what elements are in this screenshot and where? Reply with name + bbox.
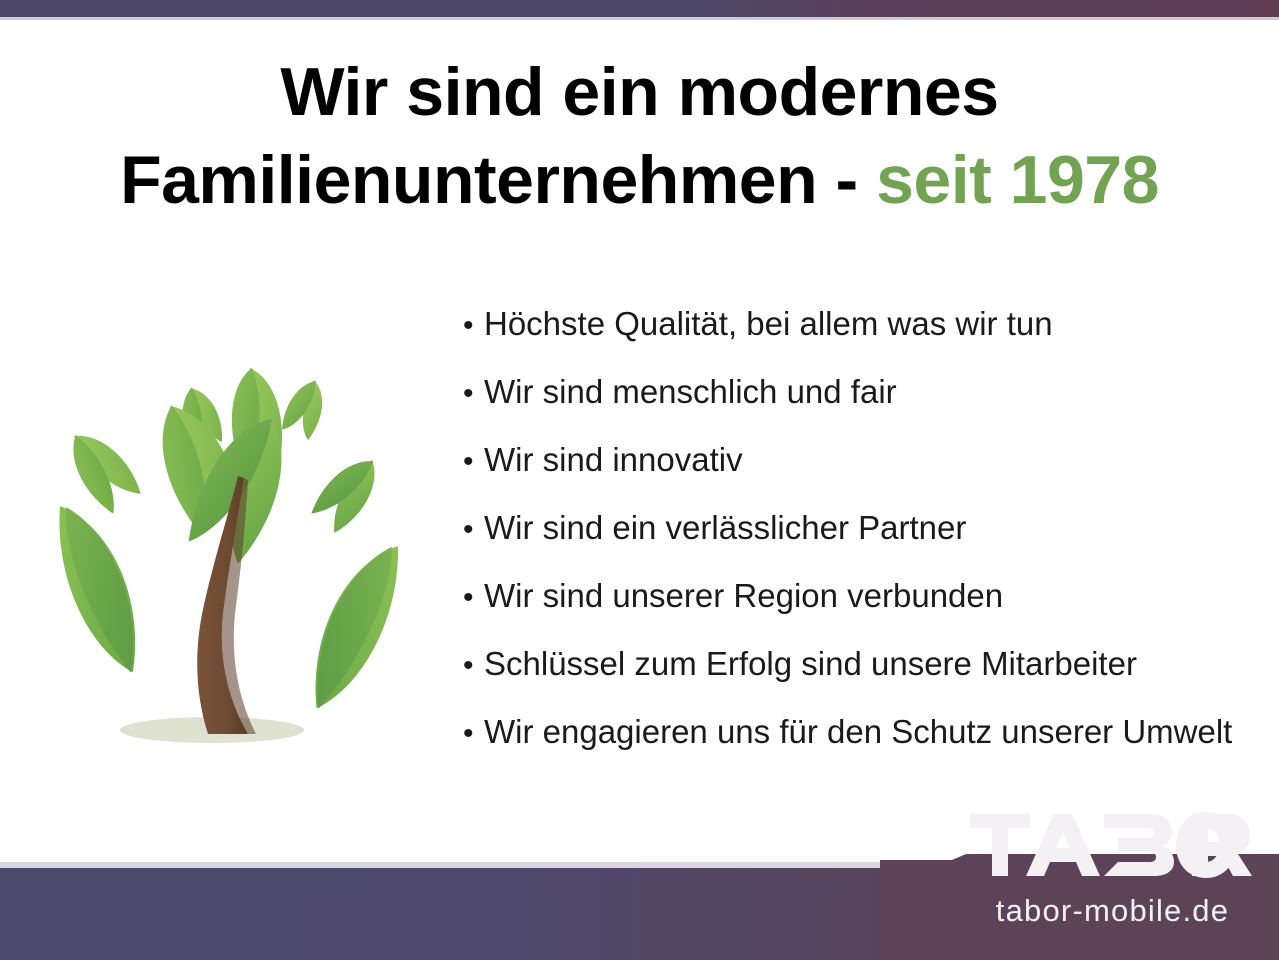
list-item-label: Wir engagieren uns für den Schutz unsere… — [484, 713, 1265, 751]
bullet-marker-icon: • — [455, 579, 484, 617]
list-item: • Wir sind menschlich und fair — [455, 373, 1265, 441]
leaf-left-outer — [58, 421, 145, 517]
top-accent-bar — [0, 0, 1279, 17]
list-item-label: Höchste Qualität, bei allem was wir tun — [484, 305, 1265, 343]
bullet-marker-icon: • — [455, 443, 484, 481]
list-item-label: Wir sind menschlich und fair — [484, 373, 1265, 411]
list-item: • Schlüssel zum Erfolg sind unsere Mitar… — [455, 645, 1265, 713]
bullet-marker-icon: • — [455, 647, 484, 685]
leaf-lower-right — [309, 536, 402, 718]
slide-canvas: Wir sind ein modernes Familienunternehme… — [0, 0, 1279, 960]
tree-illustration — [22, 330, 442, 760]
tabor-wordmark-icon — [968, 812, 1253, 878]
leaf-lower-left — [56, 499, 140, 679]
list-item-label: Wir sind ein verlässlicher Partner — [484, 509, 1265, 547]
list-item: • Wir sind unserer Region verbunden — [455, 577, 1265, 645]
headline-line-1: Wir sind ein modernes — [0, 48, 1279, 136]
page-title: Wir sind ein modernes Familienunternehme… — [0, 48, 1279, 224]
headline-line-2-prefix: Familienunternehmen - — [120, 142, 876, 218]
list-item: • Wir sind innovativ — [455, 441, 1265, 509]
leaf-top-right-small — [279, 375, 332, 442]
list-item: • Wir engagieren uns für den Schutz unse… — [455, 713, 1265, 781]
headline-accent-year: seit 1978 — [876, 142, 1159, 218]
bullet-marker-icon: • — [455, 715, 484, 753]
headline-line-2: Familienunternehmen - seit 1978 — [0, 136, 1279, 224]
top-accent-underline — [0, 17, 1279, 20]
leaf-right-outer — [307, 448, 390, 536]
brand-logo[interactable]: tabor-mobile.de — [968, 812, 1268, 952]
list-item: • Höchste Qualität, bei allem was wir tu… — [455, 305, 1265, 373]
list-item-label: Schlüssel zum Erfolg sind unsere Mitarbe… — [484, 645, 1265, 683]
brand-url[interactable]: tabor-mobile.de — [970, 894, 1255, 928]
bullet-marker-icon: • — [455, 307, 484, 345]
bullet-marker-icon: • — [455, 375, 484, 413]
list-item-label: Wir sind unserer Region verbunden — [484, 577, 1265, 615]
value-bullet-list: • Höchste Qualität, bei allem was wir tu… — [455, 305, 1265, 781]
list-item: • Wir sind ein verlässlicher Partner — [455, 509, 1265, 577]
list-item-label: Wir sind innovativ — [484, 441, 1265, 479]
bullet-marker-icon: • — [455, 511, 484, 549]
